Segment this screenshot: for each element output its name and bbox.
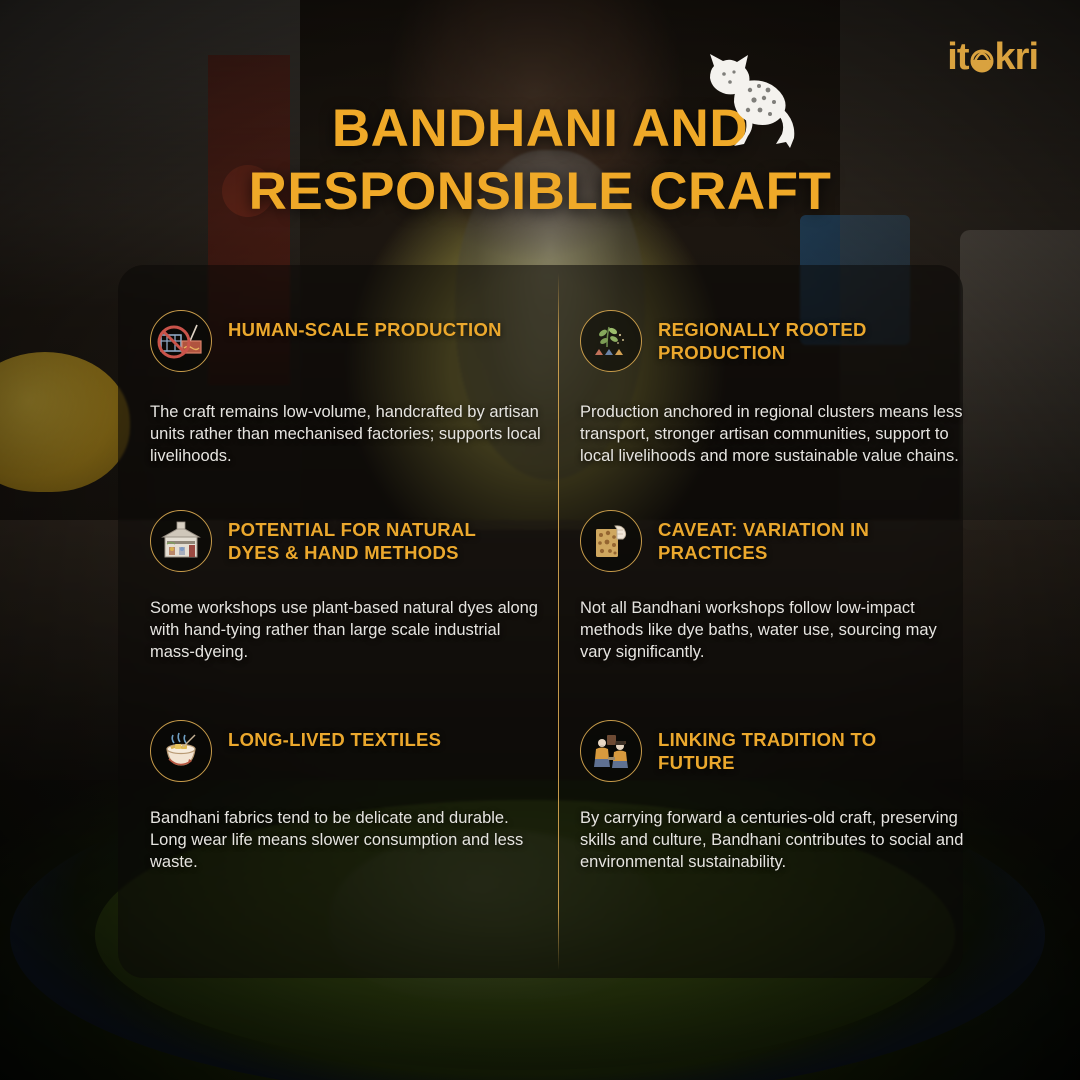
card-title: REGIONALLY ROOTED PRODUCTION <box>658 310 948 365</box>
itokri-logo[interactable]: itkri <box>947 38 1038 76</box>
card-human-scale-production: HUMAN-SCALE PRODUCTION The craft remains… <box>150 310 550 468</box>
hand-holding-patterned-fabric-icon <box>580 510 642 572</box>
card-linking-tradition-future: LINKING TRADITION TO FUTURE By carrying … <box>580 720 980 874</box>
logo-letter-kri: kri <box>995 38 1038 76</box>
card-title: LONG-LIVED TEXTILES <box>228 720 441 751</box>
steaming-dye-pot-icon <box>150 720 212 782</box>
card-body: Production anchored in regional clusters… <box>580 402 972 468</box>
card-caveat-variation-practices: CAVEAT: VARIATION IN PRACTICES Not all B… <box>580 510 980 664</box>
logo-letter-it: it <box>947 38 968 76</box>
card-body: By carrying forward a centuries-old craf… <box>580 808 972 874</box>
basket-icon <box>969 42 995 72</box>
white-cat-icon <box>690 52 798 152</box>
card-long-lived-textiles: LONG-LIVED TEXTILES Bandhani fabrics ten… <box>150 720 550 874</box>
card-header: HUMAN-SCALE PRODUCTION <box>150 310 550 372</box>
card-body: Some workshops use plant-based natural d… <box>150 598 542 664</box>
content-panel: HUMAN-SCALE PRODUCTION The craft remains… <box>118 265 963 978</box>
cards-grid: HUMAN-SCALE PRODUCTION The craft remains… <box>118 265 963 978</box>
card-body: Not all Bandhani workshops follow low-im… <box>580 598 972 664</box>
two-artisans-working-icon <box>580 720 642 782</box>
craft-workshop-building-icon <box>150 510 212 572</box>
card-body: Bandhani fabrics tend to be delicate and… <box>150 808 542 874</box>
sprouting-plants-icon <box>580 310 642 372</box>
card-header: REGIONALLY ROOTED PRODUCTION <box>580 310 980 372</box>
title-block: BANDHANI AND RESPONSIBLE CRAFT <box>0 98 1080 223</box>
card-potential-natural-dyes: POTENTIAL FOR NATURAL DYES & HAND METHOD… <box>150 510 550 664</box>
card-title: LINKING TRADITION TO FUTURE <box>658 720 948 775</box>
card-title: POTENTIAL FOR NATURAL DYES & HAND METHOD… <box>228 510 528 565</box>
card-body: The craft remains low-volume, handcrafte… <box>150 402 542 468</box>
card-header: CAVEAT: VARIATION IN PRACTICES <box>580 510 980 572</box>
title-line-1: BANDHANI AND <box>120 98 960 161</box>
page-title: BANDHANI AND RESPONSIBLE CRAFT <box>0 98 1080 223</box>
card-title: CAVEAT: VARIATION IN PRACTICES <box>658 510 948 565</box>
card-header: LINKING TRADITION TO FUTURE <box>580 720 980 782</box>
no-factory-machine-icon <box>150 310 212 372</box>
card-header: LONG-LIVED TEXTILES <box>150 720 550 782</box>
card-header: POTENTIAL FOR NATURAL DYES & HAND METHOD… <box>150 510 550 572</box>
card-regionally-rooted-production: REGIONALLY ROOTED PRODUCTION Production … <box>580 310 980 468</box>
card-title: HUMAN-SCALE PRODUCTION <box>228 310 502 341</box>
title-line-2: RESPONSIBLE CRAFT <box>120 161 960 224</box>
